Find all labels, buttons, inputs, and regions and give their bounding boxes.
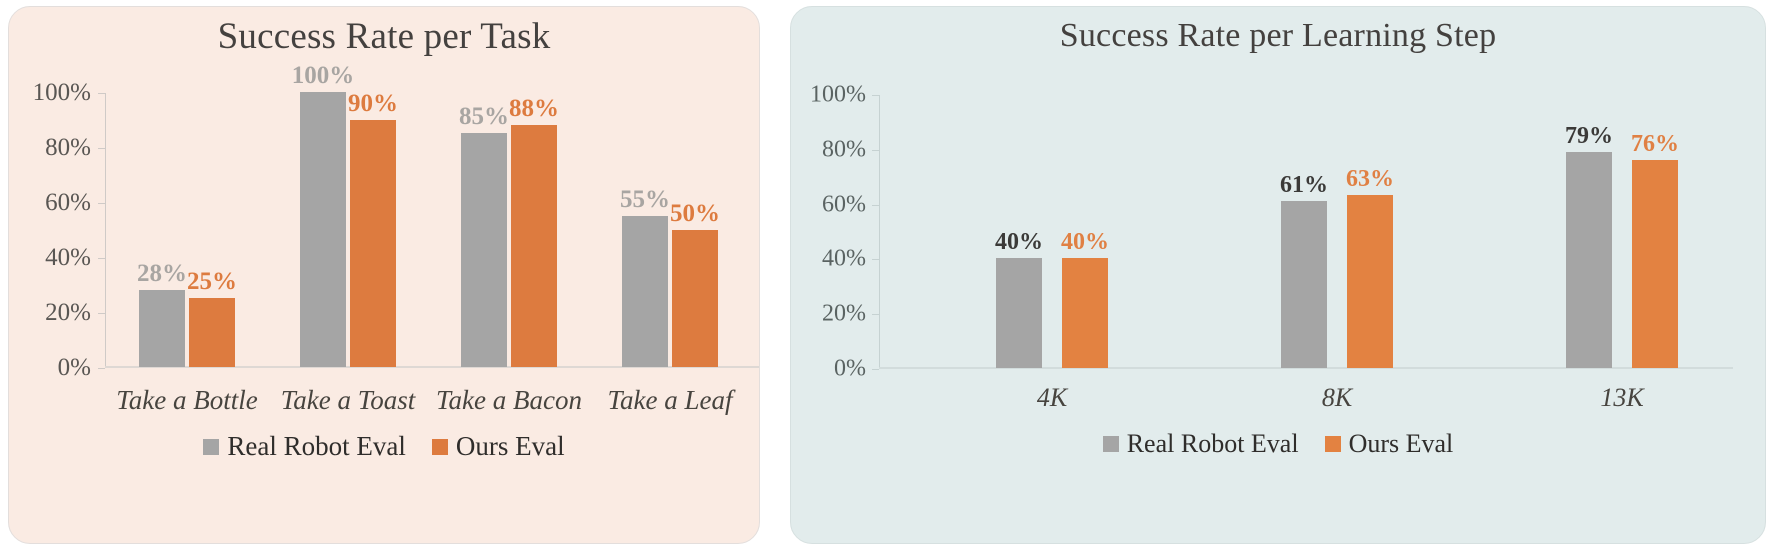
bar-value-label: 88% xyxy=(509,96,559,121)
bar-orange xyxy=(1347,195,1393,368)
y-axis-tick-label: 100% xyxy=(810,82,866,109)
y-axis-tick xyxy=(98,203,105,204)
bar-value-label: 63% xyxy=(1346,167,1394,191)
bar-value-label: 90% xyxy=(348,91,398,116)
legend-item[interactable]: Real Robot Eval xyxy=(203,431,405,462)
bar-orange xyxy=(1632,160,1678,368)
y-axis-tick xyxy=(872,314,879,315)
bar-value-label: 85% xyxy=(459,104,509,129)
legend-swatch-icon xyxy=(203,439,219,455)
legend: Real Robot EvalOurs Eval xyxy=(791,429,1765,459)
y-axis-tick xyxy=(872,205,879,206)
legend-label: Ours Eval xyxy=(1349,429,1454,459)
chart-title: Success Rate per Task xyxy=(9,15,759,58)
x-axis-category-label: 8K xyxy=(1322,383,1352,413)
plot-area-right: 0%20%40%60%80%100% 40%40%61%63%79%76% xyxy=(879,95,1739,369)
legend-label: Real Robot Eval xyxy=(227,431,405,462)
y-axis-tick xyxy=(98,368,105,369)
y-axis-tick xyxy=(872,95,879,96)
legend-label: Ours Eval xyxy=(456,431,565,462)
legend-item[interactable]: Ours Eval xyxy=(1325,429,1454,459)
bar-orange xyxy=(350,120,396,368)
legend: Real Robot EvalOurs Eval xyxy=(9,431,759,462)
y-axis-line xyxy=(105,93,106,368)
bar-orange xyxy=(189,298,235,367)
y-axis-tick-label: 40% xyxy=(822,246,866,273)
y-axis-tick-label: 60% xyxy=(45,189,91,217)
y-axis-tick-label: 0% xyxy=(834,356,866,383)
bar-orange xyxy=(672,230,718,368)
y-axis-tick xyxy=(98,148,105,149)
bar-orange xyxy=(511,125,557,367)
bar-value-label: 40% xyxy=(1061,230,1109,254)
y-axis-tick-label: 0% xyxy=(58,354,91,382)
bar-value-label: 50% xyxy=(670,201,720,226)
x-axis-category-label: 4K xyxy=(1037,383,1067,413)
bar-gray xyxy=(300,92,346,367)
bar-value-label: 40% xyxy=(995,230,1043,254)
legend-swatch-icon xyxy=(1103,436,1119,452)
legend-item[interactable]: Ours Eval xyxy=(432,431,565,462)
bar-gray xyxy=(1566,152,1612,368)
y-axis-tick xyxy=(872,259,879,260)
bar-value-label: 76% xyxy=(1631,132,1679,156)
x-axis-category-label: Take a Toast xyxy=(281,385,416,416)
y-axis-tick-label: 20% xyxy=(822,301,866,328)
legend-item[interactable]: Real Robot Eval xyxy=(1103,429,1299,459)
y-axis-tick-label: 20% xyxy=(45,299,91,327)
bar-value-label: 25% xyxy=(187,269,237,294)
dual-bar-chart-figure: Success Rate per Task 0%20%40%60%80%100%… xyxy=(0,0,1774,550)
x-axis-category-label: Take a Leaf xyxy=(607,385,732,416)
y-axis-tick xyxy=(872,369,879,370)
x-axis-category-label: Take a Bottle xyxy=(116,385,258,416)
y-axis-tick xyxy=(98,313,105,314)
y-axis-tick xyxy=(98,258,105,259)
bar-gray xyxy=(622,216,668,367)
bar-gray xyxy=(139,290,185,367)
y-axis-tick-label: 40% xyxy=(45,244,91,272)
y-axis-tick-label: 100% xyxy=(33,79,91,107)
bar-orange xyxy=(1062,258,1108,368)
chart-panel-success-rate-per-learning-step: Success Rate per Learning Step 0%20%40%6… xyxy=(790,6,1766,544)
bar-gray xyxy=(461,133,507,367)
bar-value-label: 28% xyxy=(137,261,187,286)
x-axis-category-label: Take a Bacon xyxy=(436,385,582,416)
y-axis-line xyxy=(879,95,880,369)
legend-swatch-icon xyxy=(432,439,448,455)
legend-swatch-icon xyxy=(1325,436,1341,452)
chart-title: Success Rate per Learning Step xyxy=(791,17,1765,55)
y-axis-tick-label: 80% xyxy=(45,134,91,162)
y-axis-tick xyxy=(872,150,879,151)
bar-gray xyxy=(996,258,1042,368)
bar-value-label: 100% xyxy=(292,63,355,88)
x-axis-category-label: 13K xyxy=(1600,383,1643,413)
y-axis-tick-label: 60% xyxy=(822,191,866,218)
bar-value-label: 61% xyxy=(1280,173,1328,197)
bar-gray xyxy=(1281,201,1327,368)
y-axis-tick xyxy=(98,93,105,94)
plot-area-left: 0%20%40%60%80%100% 28%25%100%90%85%88%55… xyxy=(105,93,751,368)
legend-label: Real Robot Eval xyxy=(1127,429,1299,459)
bar-value-label: 79% xyxy=(1565,124,1613,148)
y-axis-tick-label: 80% xyxy=(822,136,866,163)
bar-value-label: 55% xyxy=(620,187,670,212)
chart-panel-success-rate-per-task: Success Rate per Task 0%20%40%60%80%100%… xyxy=(8,6,760,544)
